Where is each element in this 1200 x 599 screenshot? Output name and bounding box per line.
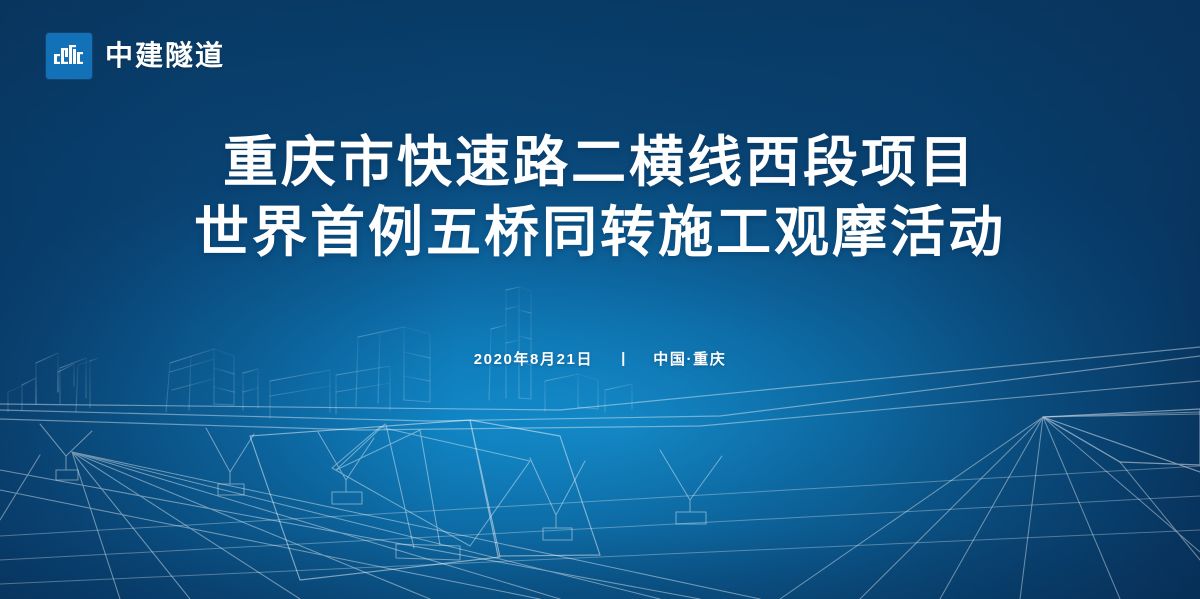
title-line-1: 重庆市快速路二横线西段项目 <box>0 127 1200 197</box>
meta-separator: | <box>621 350 625 367</box>
company-name: 中建隧道 <box>105 42 225 70</box>
background-line-art <box>0 0 1200 599</box>
perspective-road-lines <box>780 412 1200 599</box>
road-lines-lower <box>0 466 1200 584</box>
cscec-logo-icon <box>46 33 92 79</box>
poster-title: 重庆市快速路二横线西段项目 世界首例五桥同转施工观摩活动 <box>0 127 1200 267</box>
perspective-plates <box>250 409 1200 580</box>
title-line-2: 世界首例五桥同转施工观摩活动 <box>0 197 1200 267</box>
event-location: 中国·重庆 <box>653 348 726 369</box>
event-date: 2020年8月21日 <box>474 348 593 369</box>
poster-backdrop: 中建隧道 重庆市快速路二横线西段项目 世界首例五桥同转施工观摩活动 2020年8… <box>0 0 1200 599</box>
brand-logo: 中建隧道 <box>46 33 225 79</box>
poster-meta: 2020年8月21日 | 中国·重庆 <box>0 348 1200 369</box>
